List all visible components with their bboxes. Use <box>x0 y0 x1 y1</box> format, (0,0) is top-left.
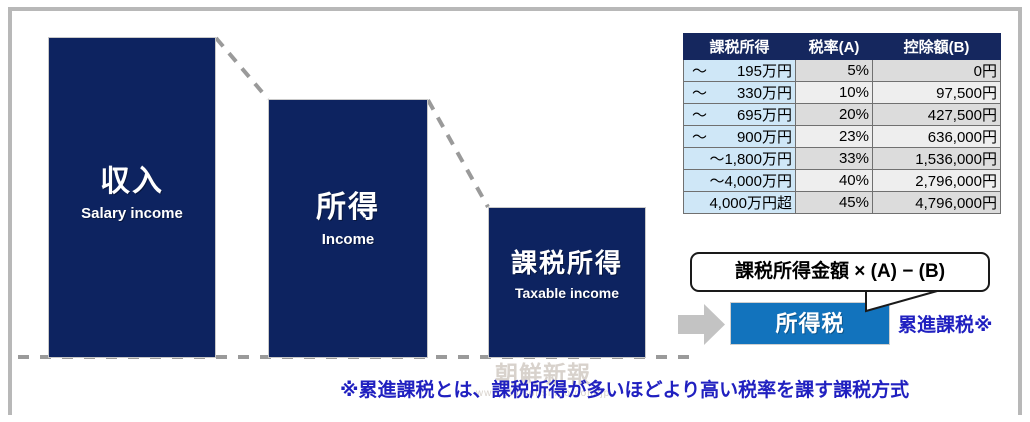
formula-text: 課税所得金額 × (A) − (B) <box>735 261 945 282</box>
diagram-canvas: 収入 Salary income 所得 Income 課税所得 Taxable … <box>0 0 1030 422</box>
formula-callout: 課税所得金額 × (A) − (B) <box>690 252 990 292</box>
callout-tail <box>0 0 1030 422</box>
